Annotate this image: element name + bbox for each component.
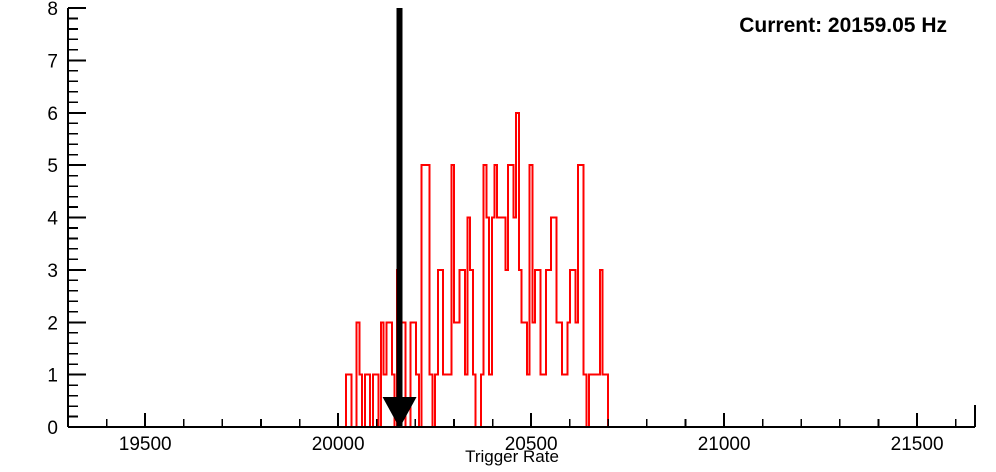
y-tick-label: 5	[47, 156, 58, 177]
y-tick-label: 4	[47, 209, 58, 230]
y-axis	[68, 8, 86, 427]
x-tick-label: 19500	[119, 434, 172, 455]
histogram-step-path	[346, 113, 643, 427]
y-tick-label: 1	[47, 366, 58, 387]
y-tick-label: 0	[47, 418, 58, 439]
x-tick-label: 21500	[891, 434, 944, 455]
histogram-outline	[346, 113, 643, 427]
y-tick-label: 3	[47, 261, 58, 282]
current-rate-label: Current: 20159.05 Hz	[739, 14, 947, 37]
histogram-plot: 012345678 1950020000205002100021500 Trig…	[0, 0, 996, 472]
y-tick-label: 2	[47, 313, 58, 334]
x-axis	[68, 405, 975, 427]
x-tick-label: 21000	[698, 434, 751, 455]
y-tick-labels: 012345678	[47, 0, 58, 439]
x-tick-label: 20000	[312, 434, 365, 455]
root-canvas: 012345678 1950020000205002100021500 Trig…	[0, 0, 996, 472]
x-axis-title: Trigger Rate	[465, 447, 559, 466]
y-tick-label: 6	[47, 104, 58, 125]
y-tick-label: 8	[47, 0, 58, 20]
y-tick-label: 7	[47, 51, 58, 72]
